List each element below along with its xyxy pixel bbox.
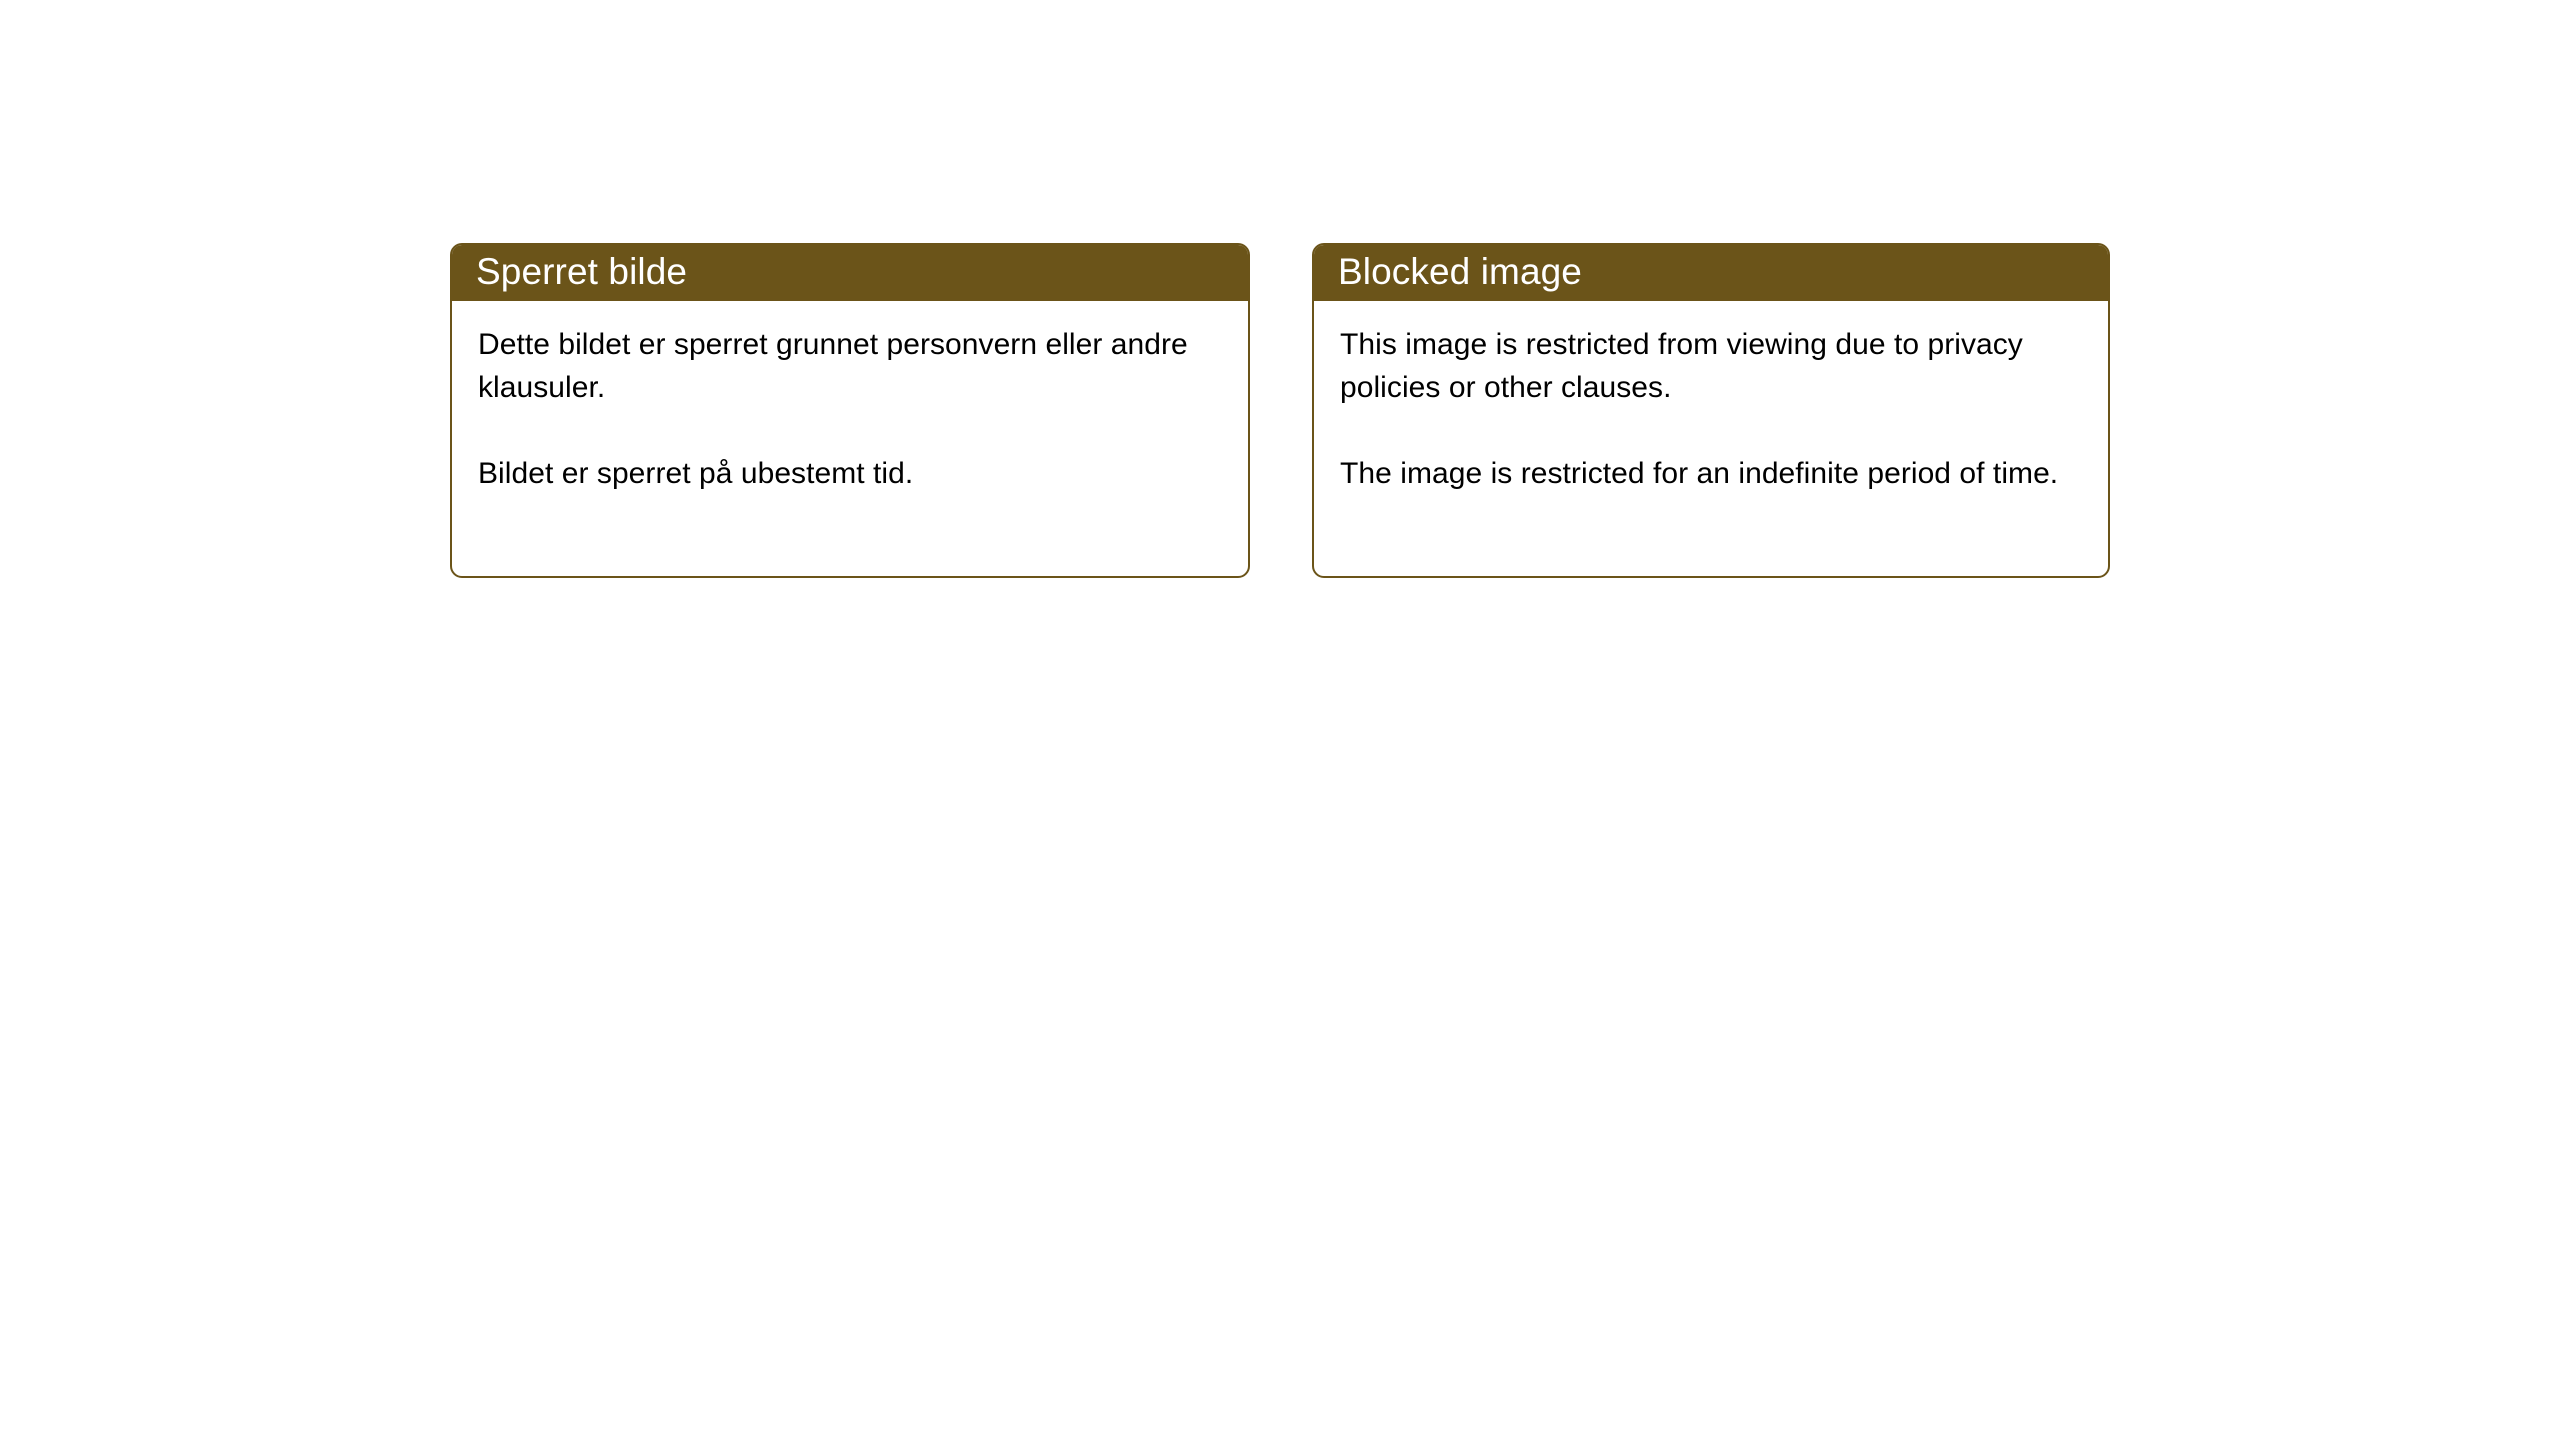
blocked-image-card-english: Blocked image This image is restricted f… bbox=[1312, 243, 2110, 578]
card-header-english: Blocked image bbox=[1312, 243, 2110, 301]
card-paragraph-primary-english: This image is restricted from viewing du… bbox=[1340, 323, 2082, 409]
card-body-english: This image is restricted from viewing du… bbox=[1314, 301, 2108, 576]
card-header-norwegian: Sperret bilde bbox=[450, 243, 1250, 301]
card-body-norwegian: Dette bildet er sperret grunnet personve… bbox=[452, 301, 1248, 576]
card-paragraph-secondary-norwegian: Bildet er sperret på ubestemt tid. bbox=[478, 452, 1222, 495]
card-paragraph-primary-norwegian: Dette bildet er sperret grunnet personve… bbox=[478, 323, 1222, 409]
card-paragraph-secondary-english: The image is restricted for an indefinit… bbox=[1340, 452, 2082, 495]
page-canvas: Sperret bilde Dette bildet er sperret gr… bbox=[0, 0, 2560, 1440]
card-title-english: Blocked image bbox=[1336, 251, 1582, 293]
blocked-image-notice-group: Sperret bilde Dette bildet er sperret gr… bbox=[450, 243, 2110, 578]
card-title-norwegian: Sperret bilde bbox=[474, 251, 687, 293]
blocked-image-card-norwegian: Sperret bilde Dette bildet er sperret gr… bbox=[450, 243, 1250, 578]
